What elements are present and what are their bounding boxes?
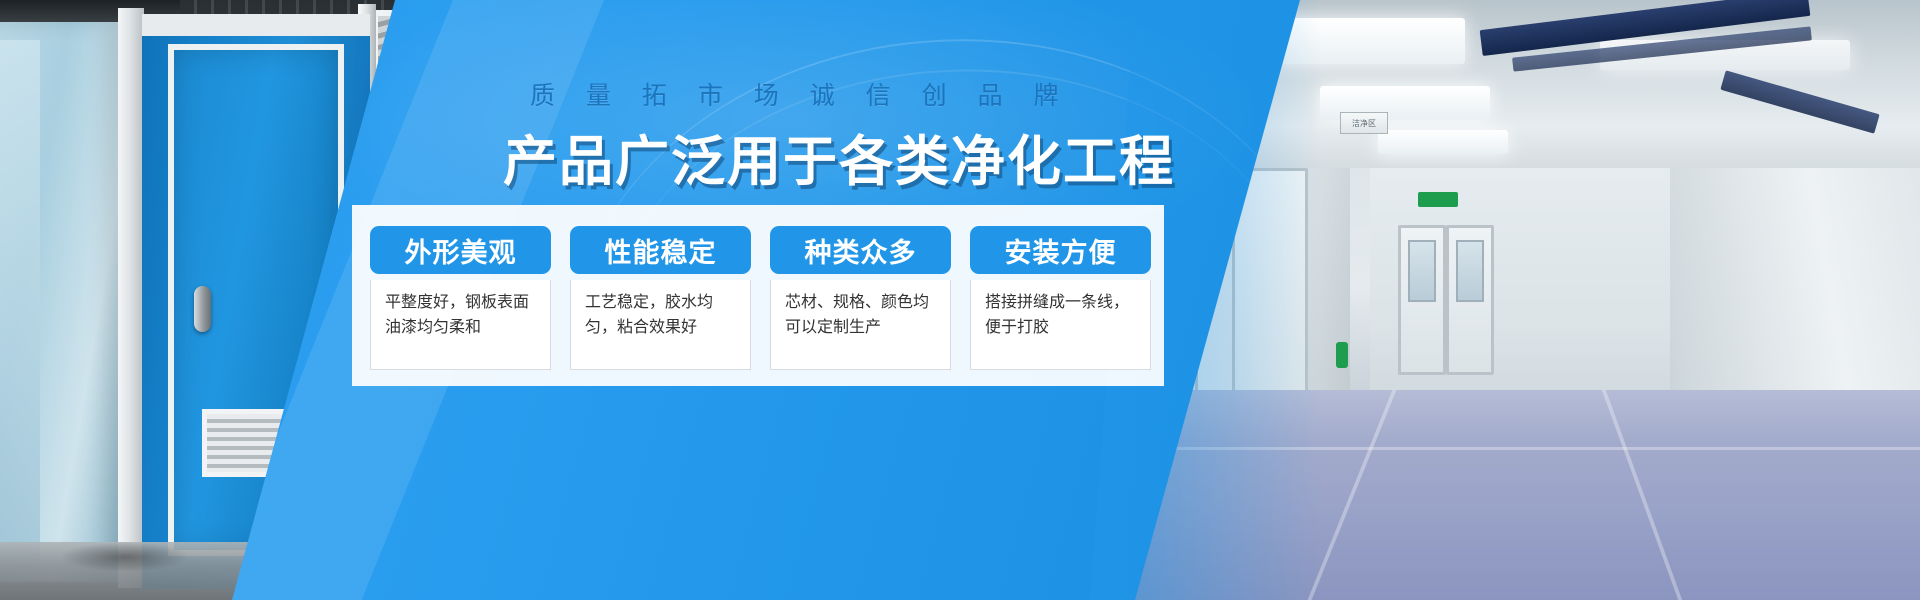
feature-card[interactable]: 种类众多 芯材、规格、颜色均可以定制生产 [770,226,951,370]
feature-card-text: 平整度好，钢板表面油漆均匀柔和 [370,280,551,370]
promo-banner: 洁净区 质 量 拓 市 场 诚 信 创 品 牌 产品广泛用于各类净化工程 外形美… [0,0,1920,600]
feature-card[interactable]: 安装方便 搭接拼缝成一条线，便于打胶 [970,226,1151,370]
cabin-glass-panel-inner [0,40,40,560]
corridor-door-window [1456,240,1484,302]
cabin-door-handle-icon [194,286,211,332]
feature-card[interactable]: 性能稳定 工艺稳定，胶水均匀，粘合效果好 [570,226,751,370]
corridor-door-window [1408,240,1436,302]
feature-card-title: 安装方便 [970,226,1151,274]
cabin-blue-unit-header [142,14,370,36]
feature-card-text: 芯材、规格、颜色均可以定制生产 [770,280,951,370]
banner-headline: 产品广泛用于各类净化工程 [503,117,1175,196]
feature-card-title: 外形美观 [370,226,551,274]
feature-card-text: 工艺稳定，胶水均匀，粘合效果好 [570,280,751,370]
left-photo-shadow [60,542,190,572]
feature-card-list: 外形美观 平整度好，钢板表面油漆均匀柔和 性能稳定 工艺稳定，胶水均匀，粘合效果… [370,226,1151,370]
feature-card[interactable]: 外形美观 平整度好，钢板表面油漆均匀柔和 [370,226,551,370]
feature-card-title: 性能稳定 [570,226,751,274]
banner-subtitle: 质 量 拓 市 场 诚 信 创 品 牌 [530,76,1090,112]
exit-sign-icon [1418,192,1458,207]
feature-card-text: 搭接拼缝成一条线，便于打胶 [970,280,1151,370]
cabin-frame-column-1 [118,8,144,588]
corridor-sign-clean-area: 洁净区 [1340,112,1388,134]
fire-extinguisher-icon [1336,342,1348,368]
ceiling-light-panel [1378,130,1508,154]
feature-card-title: 种类众多 [770,226,951,274]
